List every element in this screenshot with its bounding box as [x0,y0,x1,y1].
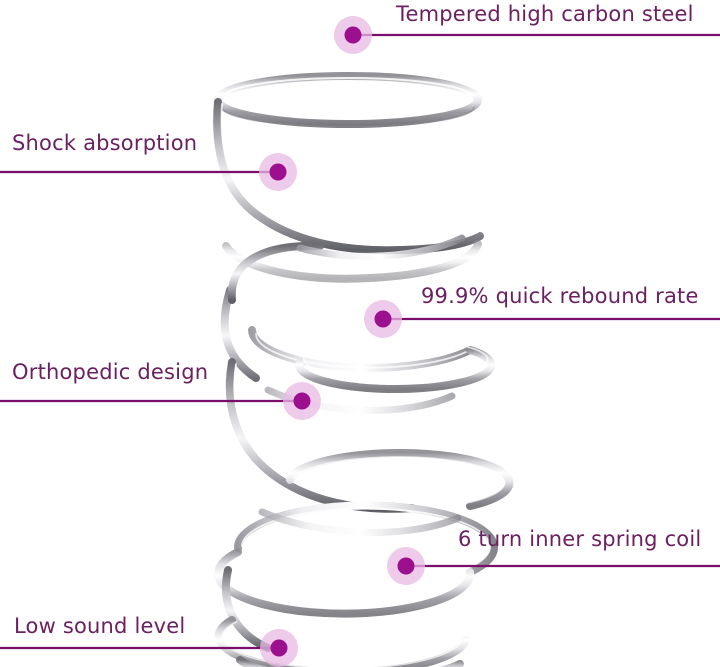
callout-dot-shock-absorption[interactable] [270,164,287,181]
callout-dot-low-sound-level[interactable] [271,640,288,657]
callout-leader-orthopedic-design [0,382,321,420]
callout-label-shock-absorption: Shock absorption [12,130,197,156]
callout-label-tempered-steel: Tempered high carbon steel [396,1,694,27]
callout-dot-quick-rebound[interactable] [375,311,392,328]
callout-label-inner-spring-coil: 6 turn inner spring coil [458,526,701,552]
coil-strand-5 [226,570,268,648]
spring-feature-infographic: Tempered high carbon steel Shock absorpt… [0,0,720,667]
callout-label-orthopedic-design: Orthopedic design [12,359,208,385]
coil-turn-1 [218,76,478,127]
callout-dot-inner-spring-coil[interactable] [398,558,415,575]
callout-label-low-sound-level: Low sound level [14,613,185,639]
callout-leader-shock-absorption [0,153,297,191]
callout-label-quick-rebound: 99.9% quick rebound rate [421,283,699,309]
callout-dot-tempered-steel[interactable] [345,27,362,44]
callout-leaders [0,16,720,667]
spring-coil-illustration [0,0,720,667]
callout-dot-orthopedic-design[interactable] [294,393,311,410]
callout-leader-inner-spring-coil [387,547,720,585]
